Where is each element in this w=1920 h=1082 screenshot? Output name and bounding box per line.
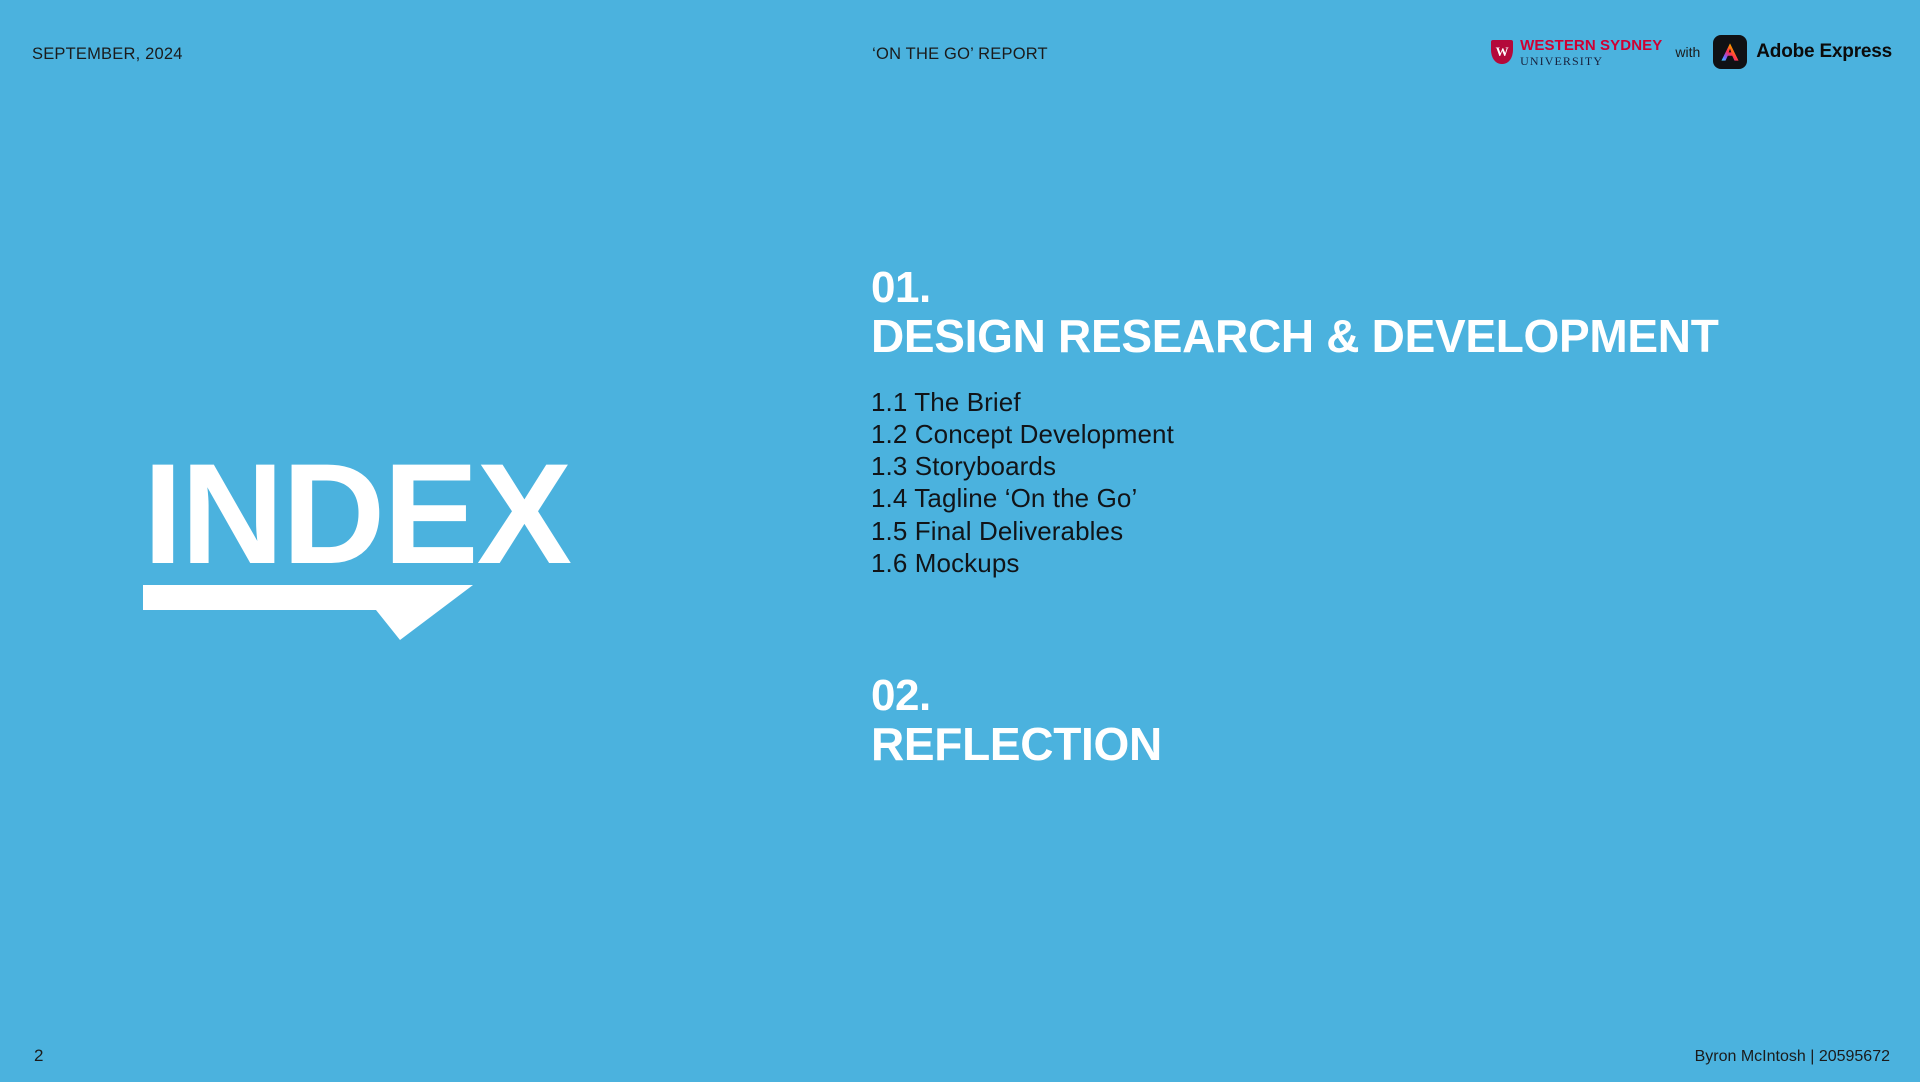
header-report-title: ‘ON THE GO’ REPORT <box>872 45 1048 64</box>
index-graphic: INDEX <box>143 455 583 575</box>
index-wordmark: INDEX <box>143 455 583 575</box>
shield-letter: W <box>1496 45 1509 58</box>
arrow-down-right-icon <box>143 585 473 641</box>
footer-credit: Byron McIntosh | 20595672 <box>1695 1048 1890 1066</box>
section-02: 02. REFLECTION <box>871 673 1851 771</box>
adobe-express-name: Adobe Express <box>1756 41 1892 63</box>
adobe-express-logo: Adobe Express <box>1713 35 1892 69</box>
with-label: with <box>1675 44 1700 60</box>
university-name-line2: UNIVERSITY <box>1520 55 1662 67</box>
section-title: DESIGN RESEARCH & DEVELOPMENT <box>871 311 1851 363</box>
section-number: 02. <box>871 673 1851 719</box>
section-title: REFLECTION <box>871 719 1851 771</box>
section-01-item-list: 1.1 The Brief 1.2 Concept Development 1.… <box>871 386 1851 579</box>
index-sections: 01. DESIGN RESEARCH & DEVELOPMENT 1.1 Th… <box>871 265 1851 771</box>
adobe-express-icon <box>1713 35 1747 69</box>
slide-canvas: SEPTEMBER, 2024 ‘ON THE GO’ REPORT W WES… <box>0 0 1920 1082</box>
section-number: 01. <box>871 265 1851 311</box>
section-01: 01. DESIGN RESEARCH & DEVELOPMENT 1.1 Th… <box>871 265 1851 579</box>
header-logos: W WESTERN SYDNEY UNIVERSITY with <box>1491 35 1892 69</box>
shield-icon: W <box>1491 40 1513 64</box>
page-number: 2 <box>34 1046 43 1066</box>
university-logo-text: WESTERN SYDNEY UNIVERSITY <box>1520 38 1662 67</box>
header-date: SEPTEMBER, 2024 <box>32 45 183 64</box>
list-item[interactable]: 1.4 Tagline ‘On the Go’ <box>871 482 1851 514</box>
list-item[interactable]: 1.3 Storyboards <box>871 450 1851 482</box>
list-item[interactable]: 1.6 Mockups <box>871 547 1851 579</box>
list-item[interactable]: 1.5 Final Deliverables <box>871 515 1851 547</box>
list-item[interactable]: 1.2 Concept Development <box>871 418 1851 450</box>
university-name-line1: WESTERN SYDNEY <box>1520 38 1662 53</box>
list-item[interactable]: 1.1 The Brief <box>871 386 1851 418</box>
western-sydney-university-logo: W WESTERN SYDNEY UNIVERSITY <box>1491 38 1662 67</box>
